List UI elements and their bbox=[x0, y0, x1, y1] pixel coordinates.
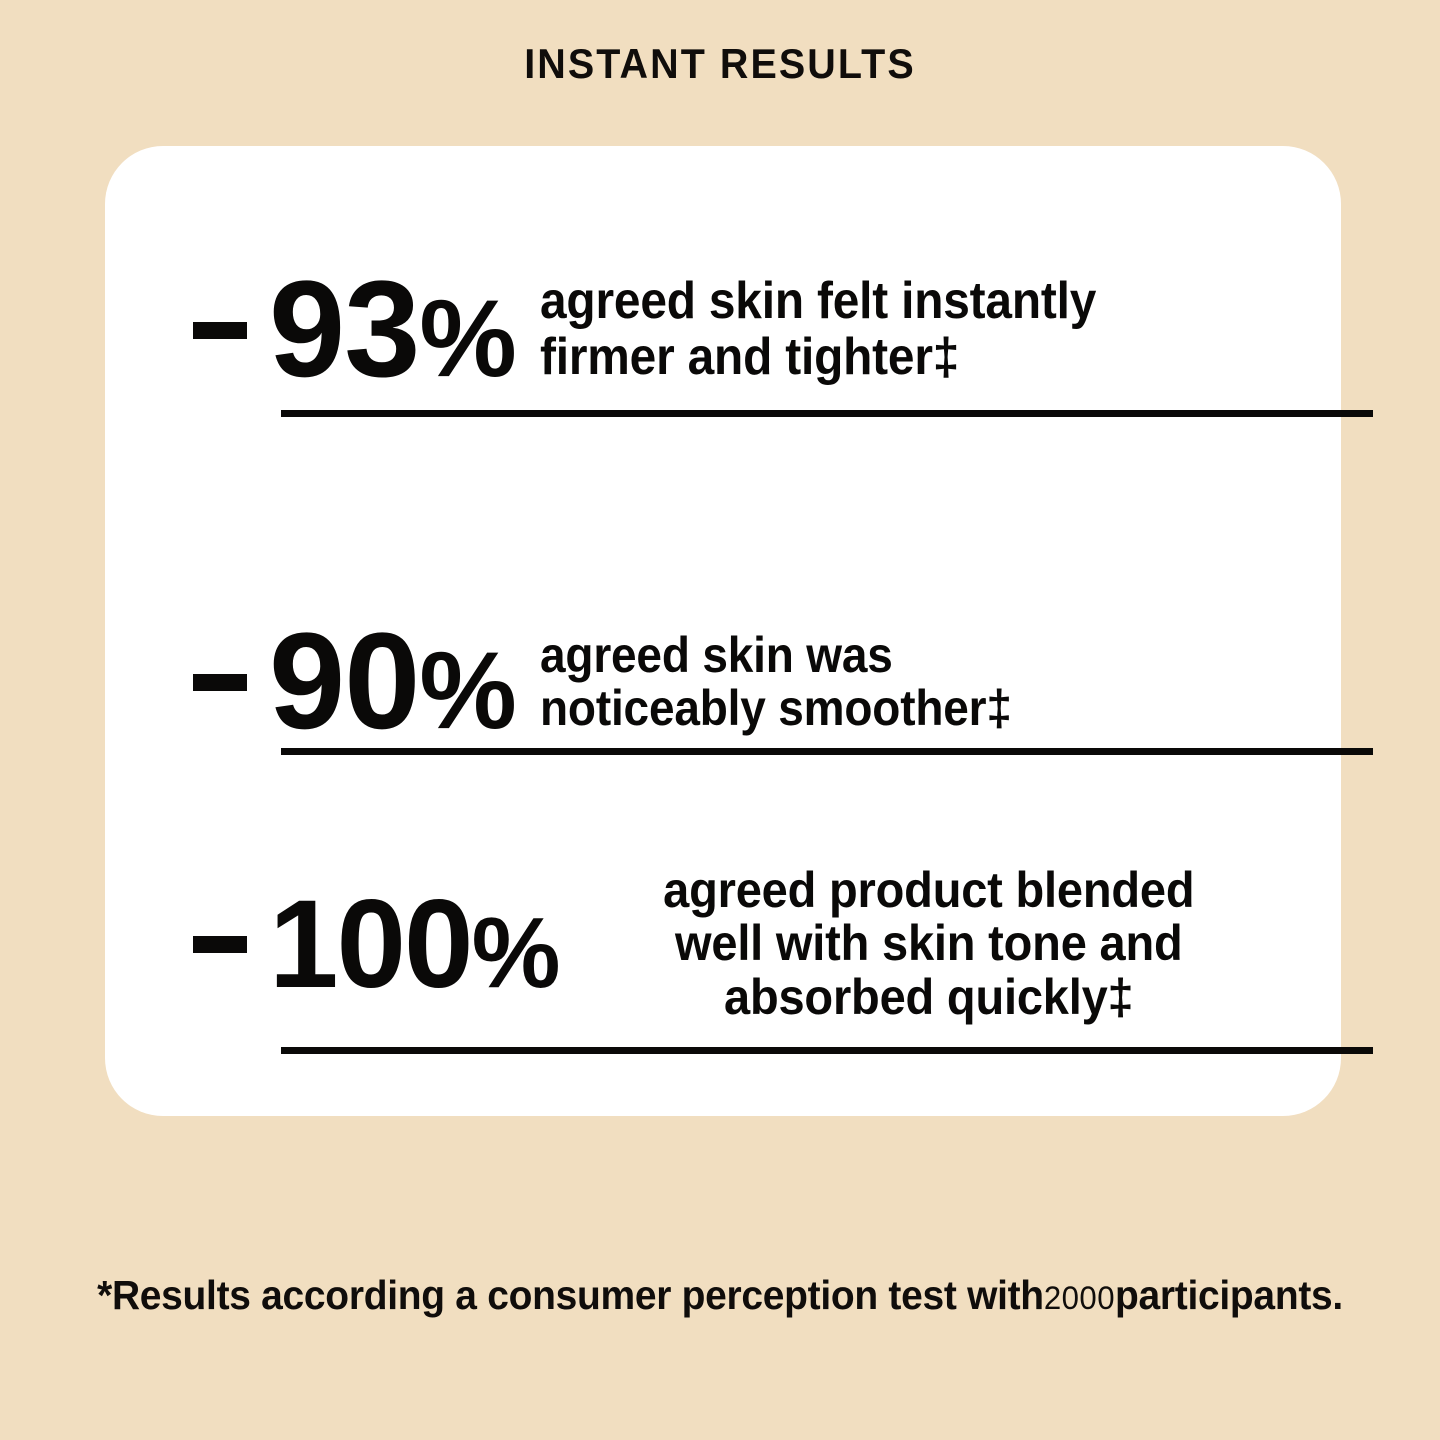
footnote: *Results according a consumer perception… bbox=[36, 1272, 1404, 1319]
stat-claim: agreed skin felt instantly firmer and ti… bbox=[540, 274, 1226, 385]
stat-claim-line: agreed product blended bbox=[595, 864, 1264, 918]
stat-divider bbox=[281, 410, 1373, 417]
stat-divider bbox=[281, 748, 1373, 755]
results-infographic: INSTANT RESULTS 93% agreed skin felt ins… bbox=[0, 0, 1440, 1440]
stat-divider bbox=[281, 1047, 1373, 1054]
stat-percentage: 93% bbox=[269, 267, 516, 393]
page-title: INSTANT RESULTS bbox=[43, 40, 1397, 88]
bullet-dash-icon bbox=[193, 322, 247, 339]
footnote-participant-count: 2000 bbox=[1044, 1279, 1115, 1316]
stat-claim: agreed skin was noticeably smoother‡ bbox=[540, 629, 1226, 736]
stat-claim-line: agreed skin felt instantly bbox=[540, 274, 1226, 330]
stat-claim-line: firmer and tighter‡ bbox=[540, 330, 1226, 386]
percent-symbol: % bbox=[419, 278, 515, 400]
stats-card: 93% agreed skin felt instantly firmer an… bbox=[105, 146, 1341, 1116]
stat-row: 93% agreed skin felt instantly firmer an… bbox=[193, 250, 1285, 410]
stats-list: 93% agreed skin felt instantly firmer an… bbox=[193, 146, 1285, 1116]
footnote-suffix: participants. bbox=[1115, 1272, 1343, 1318]
percent-symbol: % bbox=[472, 897, 560, 1009]
percent-symbol: % bbox=[419, 630, 515, 752]
stat-value: 90 bbox=[269, 605, 419, 758]
stat-row: 90% agreed skin was noticeably smoother‡ bbox=[193, 602, 1285, 762]
stat-percentage: 90% bbox=[269, 619, 516, 745]
stat-claim-line: absorbed quickly‡ bbox=[595, 971, 1264, 1025]
stat-value: 93 bbox=[269, 253, 419, 406]
stat-value: 100 bbox=[269, 875, 472, 1014]
footnote-prefix: *Results according a consumer perception… bbox=[97, 1272, 1044, 1318]
stat-claim: agreed product blended well with skin to… bbox=[595, 864, 1264, 1025]
stat-row: 100% agreed product blended well with sk… bbox=[193, 844, 1285, 1044]
bullet-dash-icon bbox=[193, 936, 247, 953]
stat-claim-line: well with skin tone and bbox=[595, 917, 1264, 971]
stat-claim-line: agreed skin was bbox=[540, 629, 1226, 683]
bullet-dash-icon bbox=[193, 674, 247, 691]
stat-claim-line: noticeably smoother‡ bbox=[540, 682, 1226, 736]
stat-percentage: 100% bbox=[269, 887, 559, 1002]
